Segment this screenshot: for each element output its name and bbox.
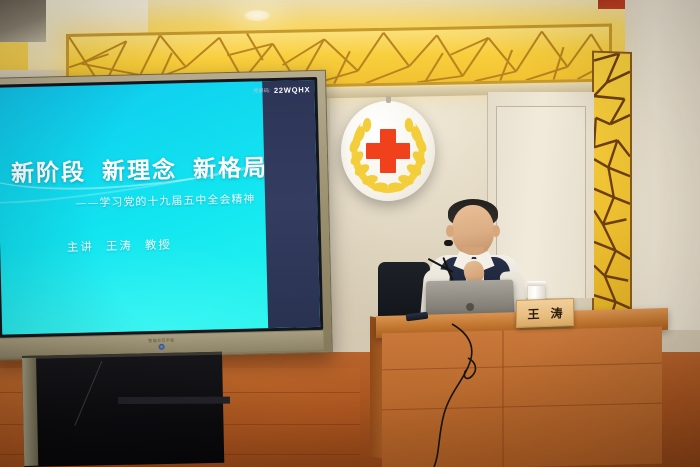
slide-presenter-line: 主讲王涛教授	[67, 237, 172, 256]
wall-lattice-right	[592, 51, 632, 334]
display-stand-cabinet	[22, 352, 224, 467]
red-cross-horizontal-bar	[366, 143, 410, 159]
slide-title-part-3: 新格局	[193, 154, 269, 183]
share-code-value: 22WQHX	[274, 85, 311, 95]
screen-sidebar-band	[262, 80, 320, 328]
ear-right	[492, 225, 500, 237]
cabinet-cable	[74, 361, 167, 453]
display-screen[interactable]: 新阶段新理念新格局 ——学习党的十九届五中全会精神 主讲王涛教授 传屏码: 22…	[0, 80, 320, 335]
presenter-title-label: 教授	[145, 238, 172, 253]
display-ir-sensor-icon	[159, 344, 165, 350]
share-code-label: 传屏码:	[253, 87, 271, 94]
red-cross-emblem	[341, 101, 435, 201]
display-bezel: 新阶段新理念新格局 ——学习党的十九届五中全会精神 主讲王涛教授 传屏码: 22…	[0, 77, 323, 338]
share-code-display: 传屏码: 22WQHX	[253, 85, 310, 95]
recessed-downlight-icon	[242, 9, 272, 22]
lecture-hall-photo: 王 涛 新阶段新理念新格局 ——学习党的十九届五中全会精神 主讲王涛教授 传屏码…	[0, 0, 700, 467]
right-wall	[625, 0, 700, 330]
microphone-head	[444, 240, 453, 246]
nameplate-surname: 王	[527, 305, 539, 322]
slide-title-part-2: 新理念	[102, 156, 178, 185]
lattice-pattern-right	[594, 53, 630, 332]
presenter-role-label: 主讲	[67, 240, 94, 255]
desk-wood-grain	[502, 330, 504, 467]
nameplate-givenname: 涛	[551, 304, 563, 321]
cup-lid	[527, 281, 546, 286]
ceiling-corner-shadow	[0, 0, 46, 42]
desk-nameplate: 王 涛	[516, 298, 574, 328]
presenter-name-label: 王涛	[106, 239, 133, 254]
interactive-display[interactable]: 新阶段新理念新格局 ——学习党的十九届五中全会精神 主讲王涛教授 传屏码: 22…	[0, 70, 333, 361]
desk-front-panel	[382, 327, 662, 467]
cabinet-left-side	[22, 358, 38, 466]
laptop-logo	[466, 303, 474, 311]
slide-title: 新阶段新理念新格局	[11, 148, 266, 188]
ear-left	[446, 225, 454, 237]
slide-title-part-1: 新阶段	[11, 158, 87, 187]
